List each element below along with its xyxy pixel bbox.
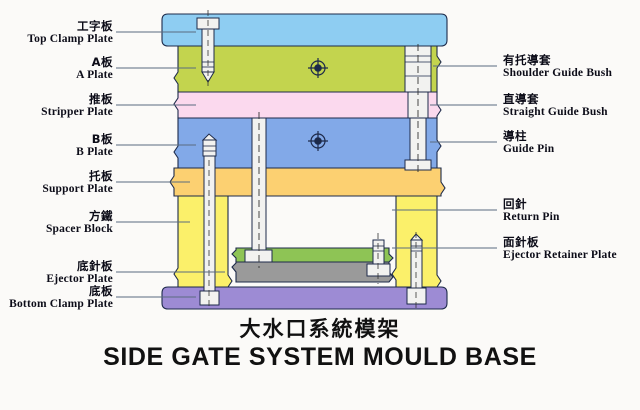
spacer-screw-shaft (411, 240, 422, 288)
return-pin-right-shaft (373, 240, 384, 264)
title-chinese: 大水口系統模架 (0, 313, 640, 343)
label-ejector-plate-cn: 底針板 (0, 260, 113, 273)
label-support-plate: 托板 Support Plate (0, 170, 113, 196)
return-pin-left-shaft (204, 156, 215, 291)
label-ejector-retainer-plate: 面針板 Ejector Retainer Plate (503, 236, 617, 262)
label-b-plate-en: B Plate (0, 146, 113, 159)
label-spacer-block: 方鐵 Spacer Block (0, 210, 113, 236)
label-guide-pin-cn: 導柱 (503, 130, 554, 143)
label-straight-guide-bush-en: Straight Guide Bush (503, 106, 608, 119)
title-english: SIDE GATE SYSTEM MOULD BASE (0, 343, 640, 372)
label-ejector-retainer-plate-cn: 面針板 (503, 236, 617, 249)
label-bottom-clamp-plate: 底板 Bottom Clamp Plate (0, 285, 113, 311)
return-pin-right-head (367, 264, 390, 276)
label-b-plate: B板 B Plate (0, 133, 113, 159)
label-a-plate: A板 A Plate (0, 56, 113, 82)
label-shoulder-guide-bush-en: Shoulder Guide Bush (503, 67, 612, 80)
label-support-plate-cn: 托板 (0, 170, 113, 183)
label-spacer-block-en: Spacer Block (0, 223, 113, 236)
label-spacer-block-cn: 方鐵 (0, 210, 113, 223)
return-pin-left-head (203, 140, 216, 156)
label-straight-guide-bush: 直導套 Straight Guide Bush (503, 93, 608, 119)
label-top-clamp-plate: 工字板 Top Clamp Plate (0, 20, 113, 46)
label-return-pin-en: Return Pin (503, 211, 560, 224)
label-stripper-plate-en: Stripper Plate (0, 106, 113, 119)
label-a-plate-cn: A板 (0, 56, 113, 69)
label-return-pin-cn: 回針 (503, 198, 560, 211)
label-shoulder-guide-bush: 有托導套 Shoulder Guide Bush (503, 54, 612, 80)
label-b-plate-cn: B板 (0, 133, 113, 146)
stripper-plate-shape (174, 92, 441, 118)
label-shoulder-guide-bush-cn: 有托導套 (503, 54, 612, 67)
label-guide-pin-en: Guide Pin (503, 143, 554, 156)
label-ejector-plate: 底針板 Ejector Plate (0, 260, 113, 286)
label-bottom-clamp-plate-cn: 底板 (0, 285, 113, 298)
label-top-clamp-plate-en: Top Clamp Plate (0, 33, 113, 46)
spacer-screw-head (407, 288, 426, 304)
label-return-pin: 回針 Return Pin (503, 198, 560, 224)
ejector-sleeve-foot (245, 250, 272, 262)
label-stripper-plate: 推板 Stripper Plate (0, 93, 113, 119)
diagram-canvas: 工字板 Top Clamp Plate A板 A Plate 推板 Stripp… (0, 0, 640, 410)
return-pin-left-foot (200, 291, 219, 305)
label-top-clamp-plate-cn: 工字板 (0, 20, 113, 33)
label-bottom-clamp-plate-en: Bottom Clamp Plate (0, 298, 113, 311)
label-stripper-plate-cn: 推板 (0, 93, 113, 106)
spacer-block-left-shape (174, 196, 232, 287)
label-straight-guide-bush-cn: 直導套 (503, 93, 608, 106)
label-support-plate-en: Support Plate (0, 183, 113, 196)
label-ejector-retainer-plate-en: Ejector Retainer Plate (503, 249, 617, 262)
label-guide-pin: 導柱 Guide Pin (503, 130, 554, 156)
label-a-plate-en: A Plate (0, 69, 113, 82)
